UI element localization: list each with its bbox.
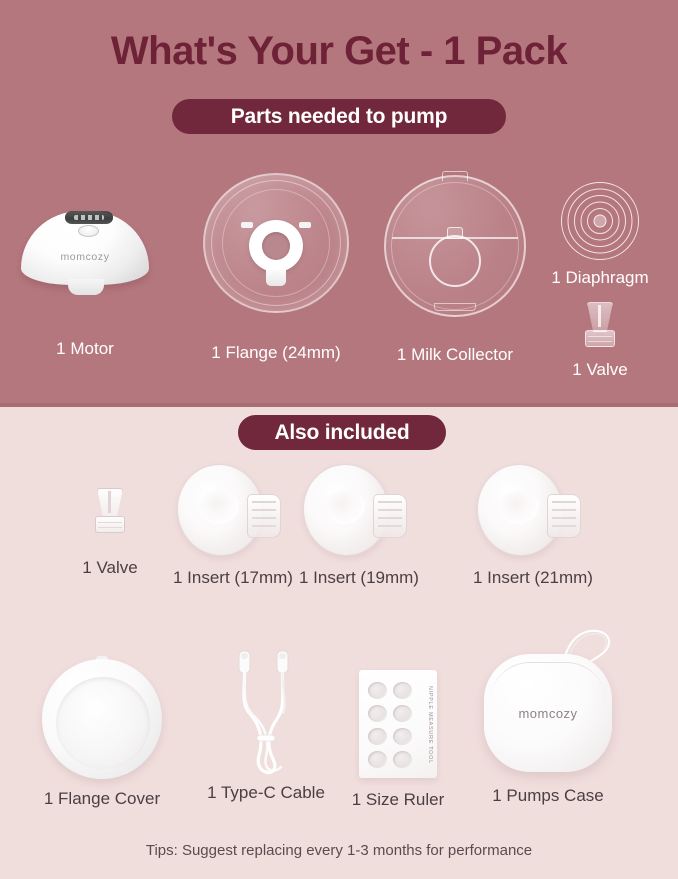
flange-art (190, 168, 362, 313)
item-type-c-cable: 1 Type-C Cable (184, 648, 348, 803)
valve-slit (108, 491, 111, 513)
item-label-motor: 1 Motor (20, 339, 150, 359)
motor-display-icon (65, 211, 113, 224)
motor-power-button-icon (78, 225, 99, 237)
section-badge-also-included: Also included (238, 415, 446, 450)
section-badge-parts-needed: Parts needed to pump (172, 99, 506, 134)
ruler-hole (393, 705, 412, 722)
insert-illustration-21 (477, 462, 589, 560)
insert-illustration-17 (177, 462, 289, 560)
insert-illustration-19 (303, 462, 415, 560)
item-label-insert-17: 1 Insert (17mm) (170, 568, 296, 588)
item-insert-21: 1 Insert (21mm) (470, 462, 596, 588)
page-title: What's Your Get - 1 Pack (0, 28, 678, 74)
milk-collector-art (372, 172, 538, 317)
ruler-hole (393, 728, 412, 745)
case-brand-text: momcozy (484, 706, 612, 721)
item-label-diaphragm: 1 Diaphragm (522, 268, 678, 288)
insert-collar-19 (373, 494, 407, 538)
item-label-pumps-case: 1 Pumps Case (468, 786, 628, 806)
item-insert-19: 1 Insert (19mm) (296, 462, 422, 588)
cover-inner-disc (56, 677, 150, 769)
insert-19-art (296, 462, 422, 560)
item-diaphragm: 1 Diaphragm (522, 180, 678, 288)
item-pumps-case: momcozy 1 Pumps Case (468, 630, 628, 806)
flange-hub-wing-right (299, 222, 311, 228)
size-ruler-illustration: NIPPLE MEASURE TOOL (359, 670, 437, 778)
collector-ring (429, 235, 481, 287)
pumps-case-art: momcozy (468, 630, 628, 782)
valve-collar-top (585, 330, 615, 347)
motor-illustration: momcozy (21, 203, 149, 295)
item-label-valve-top: 1 Valve (540, 360, 660, 380)
item-insert-17: 1 Insert (17mm) (170, 462, 296, 588)
diaphragm-art (522, 180, 678, 260)
ruler-hole (368, 728, 387, 745)
item-label-type-c-cable: 1 Type-C Cable (184, 783, 348, 803)
valve-art (58, 478, 162, 536)
valve-slit-top (598, 305, 601, 327)
motor-connector-tab (68, 279, 104, 295)
ruler-hole (368, 751, 387, 768)
valve-illustration-top (585, 302, 615, 350)
valve-collar (95, 516, 125, 533)
ruler-hole (393, 751, 412, 768)
item-flange-cover: 1 Flange Cover (20, 655, 184, 809)
insert-21-art (470, 462, 596, 560)
collector-bottom-strip (434, 303, 476, 311)
ruler-hole-grid (366, 680, 414, 770)
item-valve-top: 1 Valve (540, 300, 660, 380)
item-valve: 1 Valve (58, 478, 162, 578)
item-label-flange: 1 Flange (24mm) (190, 343, 362, 363)
item-label-valve: 1 Valve (58, 558, 162, 578)
flange-hub-opening (262, 232, 290, 260)
item-label-insert-21: 1 Insert (21mm) (470, 568, 596, 588)
flange-hub-wing-left (241, 222, 253, 228)
case-zipper (490, 662, 606, 702)
insert-collar-17 (247, 494, 281, 538)
motor-brand-text: momcozy (21, 251, 149, 263)
diaphragm-illustration (561, 182, 639, 260)
item-milk-collector: 1 Milk Collector (372, 172, 538, 365)
item-label-size-ruler: 1 Size Ruler (340, 790, 456, 810)
ruler-hole (368, 705, 387, 722)
flange-stem (266, 270, 286, 286)
motor-art: momcozy (20, 195, 150, 295)
type-c-cable-art (184, 648, 348, 779)
cable-svg (211, 649, 321, 779)
insert-17-art (170, 462, 296, 560)
item-motor: momcozy 1 Motor (20, 195, 150, 359)
milk-collector-illustration (384, 175, 526, 317)
footer-tip-text: Tips: Suggest replacing every 1-3 months… (0, 842, 678, 859)
valve-illustration (95, 488, 125, 536)
item-label-insert-19: 1 Insert (19mm) (296, 568, 422, 588)
item-flange: 1 Flange (24mm) (190, 168, 362, 363)
insert-collar-21 (547, 494, 581, 538)
ruler-hole (393, 682, 412, 699)
item-label-milk-collector: 1 Milk Collector (372, 345, 538, 365)
diaphragm-ring-6 (594, 215, 607, 228)
infographic-page: What's Your Get - 1 Pack Parts needed to… (0, 0, 678, 879)
size-ruler-art: NIPPLE MEASURE TOOL (340, 668, 456, 778)
type-c-cable-illustration (211, 649, 321, 779)
pumps-case-illustration: momcozy (478, 632, 618, 782)
item-size-ruler: NIPPLE MEASURE TOOL 1 Size Ruler (340, 668, 456, 810)
flange-cover-art (20, 655, 184, 779)
flange-illustration (201, 173, 351, 313)
valve-top-art (540, 300, 660, 350)
ruler-hole (368, 682, 387, 699)
ruler-vertical-text: NIPPLE MEASURE TOOL (427, 686, 433, 764)
item-label-flange-cover: 1 Flange Cover (20, 789, 184, 809)
flange-cover-illustration (42, 659, 162, 779)
